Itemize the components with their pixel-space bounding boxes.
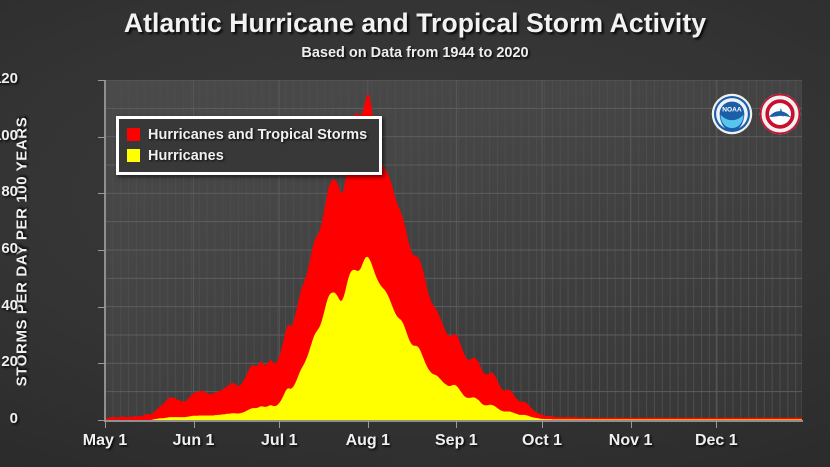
y-tick-label: 80	[0, 183, 18, 200]
y-tick-mark	[98, 137, 105, 138]
x-tick-mark	[279, 420, 280, 428]
legend-swatch-hurricanes	[127, 149, 140, 162]
x-tick-mark	[368, 420, 369, 428]
svg-text:NOAA: NOAA	[722, 106, 742, 113]
legend-swatch-total	[127, 128, 140, 141]
x-tick-mark	[456, 420, 457, 428]
y-tick-label: 60	[0, 240, 18, 257]
y-tick-mark	[98, 363, 105, 364]
legend-item: Hurricanes and Tropical Storms	[127, 124, 367, 145]
page-title: Atlantic Hurricane and Tropical Storm Ac…	[0, 8, 830, 39]
x-tick-label: Dec 1	[661, 432, 771, 450]
chart-page: Atlantic Hurricane and Tropical Storm Ac…	[0, 0, 830, 467]
chart-legend: Hurricanes and Tropical Storms Hurricane…	[116, 116, 382, 175]
y-tick-mark	[98, 80, 105, 81]
y-tick-label: 120	[0, 70, 18, 87]
y-tick-label: 100	[0, 127, 18, 144]
legend-label-hurricanes: Hurricanes	[148, 148, 224, 164]
noaa-logo: NOAA	[710, 92, 754, 136]
agency-logos: NOAA	[710, 92, 802, 138]
legend-item: Hurricanes	[127, 145, 367, 166]
y-tick-mark	[98, 193, 105, 194]
y-tick-label: 0	[0, 410, 18, 427]
x-tick-mark	[194, 420, 195, 428]
y-tick-label: 20	[0, 353, 18, 370]
x-tick-mark	[631, 420, 632, 428]
legend-label-total: Hurricanes and Tropical Storms	[148, 127, 367, 143]
y-tick-label: 40	[0, 297, 18, 314]
y-tick-mark	[98, 420, 105, 421]
x-axis-line	[104, 420, 803, 422]
x-tick-mark	[105, 420, 106, 428]
x-tick-mark	[542, 420, 543, 428]
page-subtitle: Based on Data from 1944 to 2020	[0, 45, 830, 61]
y-tick-mark	[98, 250, 105, 251]
x-tick-mark	[716, 420, 717, 428]
y-tick-mark	[98, 307, 105, 308]
nws-logo	[758, 92, 802, 136]
